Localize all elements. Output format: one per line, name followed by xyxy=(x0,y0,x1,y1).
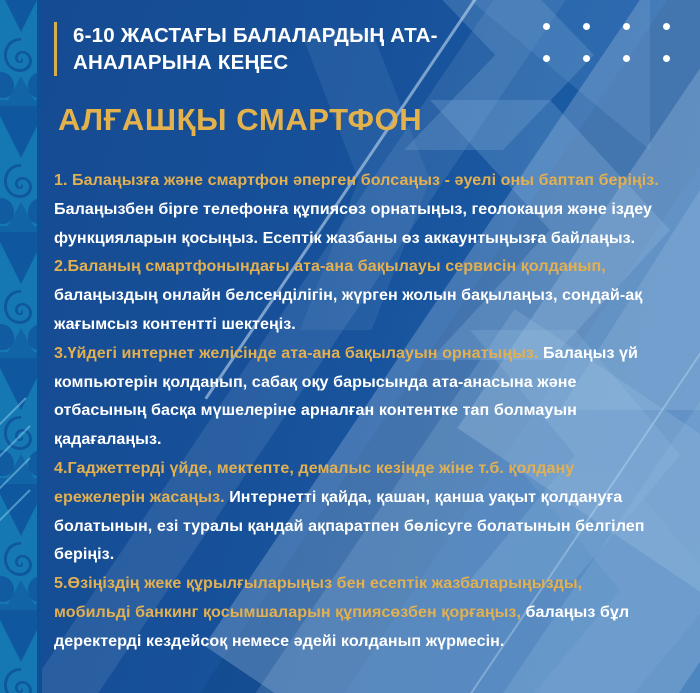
content-area: 6-10 ЖАСТАҒЫ БАЛАЛАРДЫҢ АТА-АНАЛАРЫНА КЕ… xyxy=(0,0,700,693)
list-item: 1. Балаңызға және смартфон әперген болса… xyxy=(54,166,660,252)
advice-5-highlight: 5.Өзіңіздің жеке құрылғыларыңыз бен есеп… xyxy=(54,574,582,621)
list-item: 4.Гаджеттерді үйде, мектепте, демалыс ке… xyxy=(54,454,660,569)
list-item: 3.Үйдегі интернет желісінде ата-ана бақы… xyxy=(54,339,660,454)
advice-1-body: Балаңызбен бірге телефонға құпиясөз орна… xyxy=(54,200,652,247)
headline: АЛҒАШҚЫ СМАРТФОН xyxy=(58,103,422,137)
list-item: 2.Баланың смартфонындағы ата-ана бақылау… xyxy=(54,252,660,338)
advice-list: 1. Балаңызға және смартфон әперген болса… xyxy=(54,166,660,656)
advice-2-highlight: 2.Баланың смартфонындағы ата-ана бақылау… xyxy=(54,257,606,275)
title-block: 6-10 ЖАСТАҒЫ БАЛАЛАРДЫҢ АТА-АНАЛАРЫНА КЕ… xyxy=(54,22,543,76)
page-title: 6-10 ЖАСТАҒЫ БАЛАЛАРДЫҢ АТА-АНАЛАРЫНА КЕ… xyxy=(73,22,543,76)
list-item: 5.Өзіңіздің жеке құрылғыларыңыз бен есеп… xyxy=(54,569,660,655)
advice-2-body: балаңыздың онлайн белсенділігін, жүрген … xyxy=(54,286,642,333)
poster-root: 6-10 ЖАСТАҒЫ БАЛАЛАРДЫҢ АТА-АНАЛАРЫНА КЕ… xyxy=(0,0,700,693)
advice-1-highlight: 1. Балаңызға және смартфон әперген болса… xyxy=(54,171,659,189)
advice-3-highlight: 3.Үйдегі интернет желісінде ата-ана бақы… xyxy=(54,344,538,362)
